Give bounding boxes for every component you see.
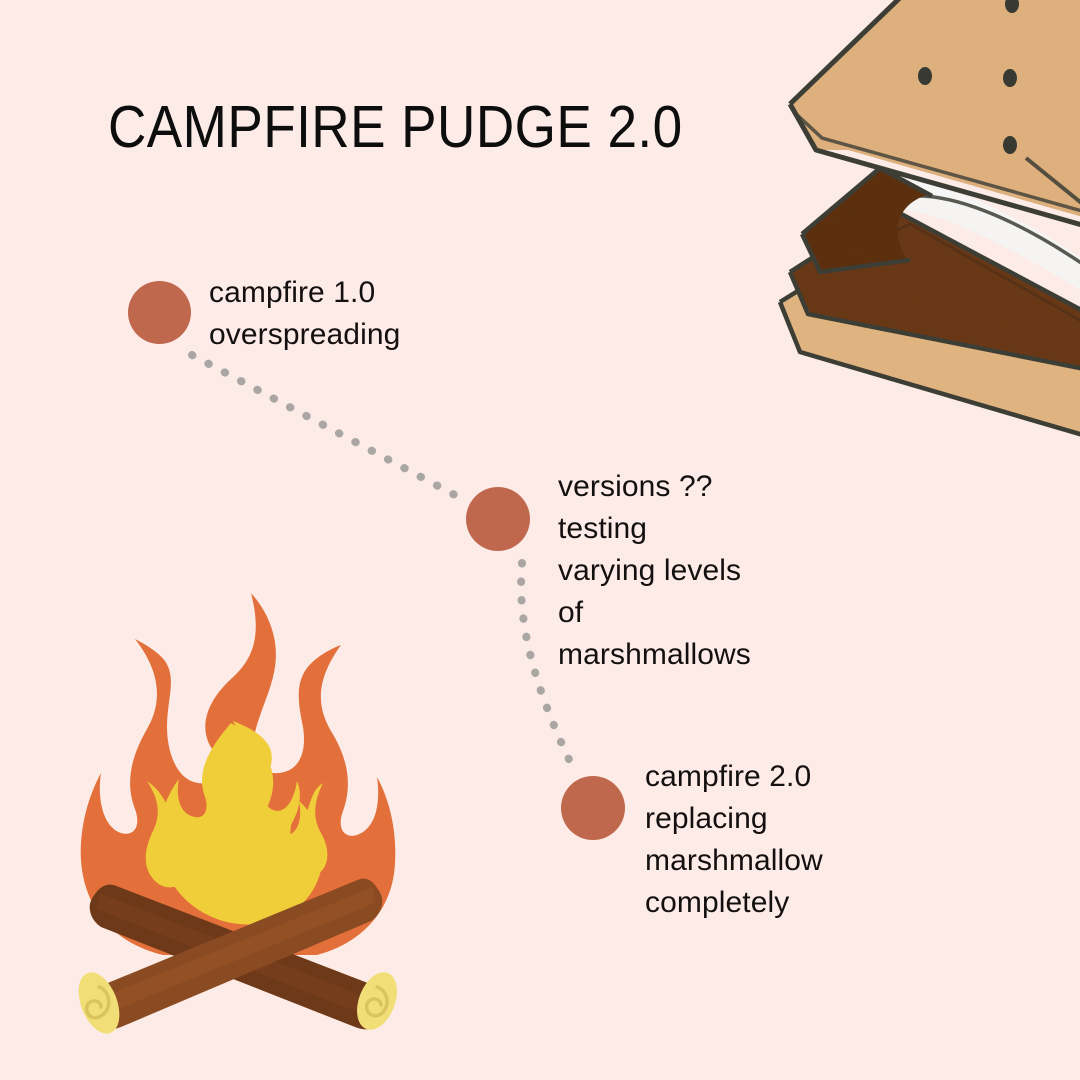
node-label: versions ?? testing varying levels of ma… bbox=[558, 466, 751, 676]
connector-node1-node2 bbox=[192, 355, 468, 502]
node-marker-dot bbox=[128, 281, 191, 344]
poster-canvas: CAMPFIRE PUDGE 2.0 campfire 1.0 overspre… bbox=[0, 0, 1080, 1080]
node-marker-dot bbox=[466, 487, 530, 551]
node-label: campfire 2.0 replacing marshmallow compl… bbox=[645, 756, 823, 924]
campfire-illustration bbox=[55, 575, 415, 1045]
node-label: campfire 1.0 overspreading bbox=[209, 272, 400, 356]
page-title: CAMPFIRE PUDGE 2.0 bbox=[108, 98, 683, 157]
node-marker-dot bbox=[561, 776, 625, 840]
smore-illustration bbox=[760, 0, 1080, 532]
